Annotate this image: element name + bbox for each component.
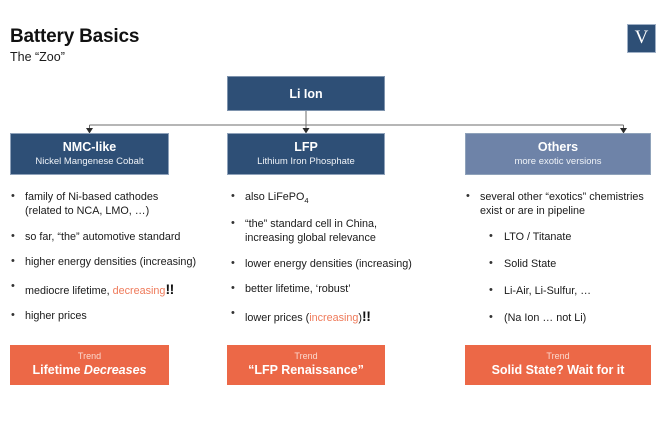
bullet-item: mediocre lifetime, decreasing!!	[8, 280, 216, 298]
trend-title-italic: Decreases	[84, 363, 147, 377]
bullet-item: lower prices (increasing)!!	[228, 307, 440, 325]
bullet-column-nmc: family of Ni-based cathodes(related to N…	[8, 190, 216, 335]
bullet-column-lfp: also LiFePO4“the” standard cell in China…	[228, 190, 440, 337]
trend-box-nmc[interactable]: Trend Lifetime Decreases	[10, 345, 169, 385]
trend-box-lfp[interactable]: Trend “LFP Renaissance”	[227, 345, 385, 385]
category-subtitle: Nickel Mangenese Cobalt	[35, 156, 143, 168]
category-box-others[interactable]: Others more exotic versions	[465, 133, 651, 175]
category-box-lfp[interactable]: LFP Lithium Iron Phosphate	[227, 133, 385, 175]
sub-bullet-item: Li-Air, Li-Sulfur, …	[485, 284, 665, 298]
logo-glyph: V	[635, 28, 649, 49]
title-block: Battery Basics The “Zoo”	[10, 27, 139, 65]
trend-kicker: Trend	[294, 351, 317, 362]
trend-kicker: Trend	[546, 351, 569, 362]
bullet-item: higher energy densities (increasing)	[8, 255, 216, 269]
bullet-list: family of Ni-based cathodes(related to N…	[8, 190, 216, 324]
trend-title: Lifetime Decreases	[33, 363, 147, 379]
sub-bullet-item: LTO / Titanate	[485, 230, 665, 244]
bullet-item: several other “exotics” chemistriesexist…	[463, 190, 665, 219]
category-box-nmc[interactable]: NMC-like Nickel Mangenese Cobalt	[10, 133, 169, 175]
bullet-item: family of Ni-based cathodes(related to N…	[8, 190, 216, 219]
emphasis-exclamation: !!	[362, 308, 370, 324]
root-node-li-ion[interactable]: Li Ion	[227, 76, 385, 111]
category-subtitle: more exotic versions	[514, 156, 601, 168]
bullet-item: also LiFePO4	[228, 190, 440, 206]
bullet-item: better lifetime, ‘robust’	[228, 282, 440, 296]
category-title: NMC-like	[63, 140, 116, 154]
trend-title-plain: Solid State? Wait for it	[492, 363, 625, 377]
bullet-item: lower energy densities (increasing)	[228, 257, 440, 271]
bullet-column-others: several other “exotics” chemistriesexist…	[463, 190, 665, 339]
highlighted-text: increasing	[309, 312, 358, 324]
slide-canvas: Battery Basics The “Zoo” V NMC-like Nick…	[0, 0, 669, 423]
trend-kicker: Trend	[78, 351, 101, 362]
highlighted-text: decreasing	[113, 285, 166, 297]
root-node-label: Li Ion	[289, 87, 322, 101]
sub-bullet-item: (Na Ion … not Li)	[485, 311, 665, 325]
trend-title: Solid State? Wait for it	[492, 363, 625, 379]
v-logo-icon: V	[627, 24, 656, 53]
chemical-subscript: 4	[304, 196, 308, 205]
trend-title-plain: “LFP Renaissance”	[248, 363, 364, 377]
bullet-list: also LiFePO4“the” standard cell in China…	[228, 190, 440, 326]
page-subtitle: The “Zoo”	[10, 50, 139, 65]
sub-bullet-item: Solid State	[485, 257, 665, 271]
emphasis-exclamation: !!	[165, 281, 173, 297]
trend-title: “LFP Renaissance”	[248, 363, 364, 379]
sub-bullet-list: LTO / TitanateSolid StateLi-Air, Li-Sulf…	[485, 230, 665, 326]
page-title: Battery Basics	[10, 27, 139, 48]
bullet-item: so far, “the” automotive standard	[8, 230, 216, 244]
bullet-list: several other “exotics” chemistriesexist…	[463, 190, 665, 326]
category-subtitle: Lithium Iron Phosphate	[257, 156, 355, 168]
trend-title-plain: Lifetime	[33, 363, 84, 377]
category-title: LFP	[294, 140, 318, 154]
trend-box-others[interactable]: Trend Solid State? Wait for it	[465, 345, 651, 385]
category-title: Others	[538, 140, 578, 154]
bullet-item: higher prices	[8, 309, 216, 323]
bullet-item: “the” standard cell in China,increasing …	[228, 217, 440, 246]
